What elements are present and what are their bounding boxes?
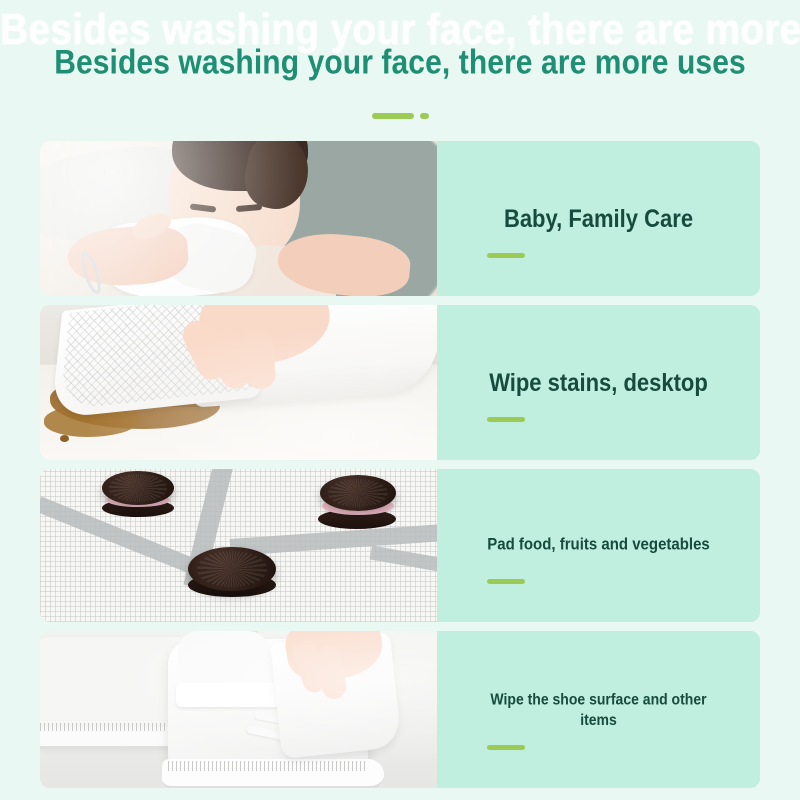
- accent-underline-icon: [487, 745, 525, 750]
- card-body-sneakers: Wipe the shoe surface and other items: [437, 631, 760, 788]
- card-body-stain: Wipe stains, desktop: [437, 305, 760, 460]
- card-label: Wipe stains, desktop: [489, 367, 708, 398]
- card-body-cookies: Pad food, fruits and vegetables: [437, 469, 760, 622]
- card-label: Wipe the shoe surface and other items: [489, 690, 709, 730]
- page-title: Besides washing your face, there are mor…: [0, 44, 800, 83]
- accent-underline-icon: [487, 579, 525, 584]
- card-photo-cookies: [40, 469, 437, 622]
- card-photo-sneakers: [40, 631, 437, 788]
- accent-underline-icon: [487, 417, 525, 422]
- card-photo-baby: [40, 141, 437, 296]
- divider-bar-icon: [372, 113, 414, 119]
- feature-card-pad-food[interactable]: Pad food, fruits and vegetables: [40, 469, 760, 622]
- card-photo-stain: [40, 305, 437, 460]
- page-header: Besides washing your face, there are mor…: [0, 0, 800, 141]
- feature-card-wipe-stains-desktop[interactable]: Wipe stains, desktop: [40, 305, 760, 460]
- promo-page: Besides washing your face, there are mor…: [0, 0, 800, 800]
- feature-card-wipe-shoe-surface[interactable]: Wipe the shoe surface and other items: [40, 631, 760, 788]
- feature-card-baby-family-care[interactable]: Baby, Family Care: [40, 141, 760, 296]
- accent-underline-icon: [487, 253, 525, 258]
- header-divider: [0, 113, 800, 119]
- card-label: Baby, Family Care: [504, 203, 693, 234]
- card-body-baby: Baby, Family Care: [437, 141, 760, 296]
- divider-dot-icon: [420, 113, 429, 119]
- card-label: Pad food, fruits and vegetables: [487, 535, 710, 556]
- feature-card-list: Baby, Family Care: [40, 141, 760, 797]
